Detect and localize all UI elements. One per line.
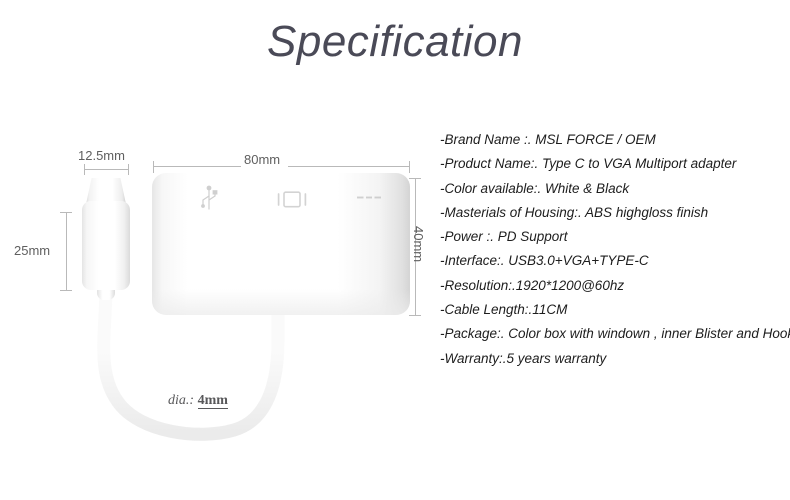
power-icon bbox=[356, 193, 382, 205]
spec-line: -Interface:. USB3.0+VGA+TYPE-C bbox=[440, 249, 790, 273]
spec-line: -Masterials of Housing:. ABS highgloss f… bbox=[440, 201, 790, 225]
spec-line: -Product Name:. Type C to VGA Multiport … bbox=[440, 152, 790, 176]
dim-tick-body-height-top bbox=[409, 178, 421, 179]
spec-line: -Resolution:.1920*1200@60hz bbox=[440, 274, 790, 298]
specification-list: -Brand Name :. MSL FORCE / OEM -Product … bbox=[440, 128, 790, 371]
usb-icon bbox=[200, 185, 218, 211]
dim-label-body-height: 40mm bbox=[411, 226, 426, 262]
dim-label-body-width: 80mm bbox=[244, 152, 280, 167]
product-diagram: 12.5mm 25mm 80mm 40mm dia.: 4mm bbox=[0, 100, 440, 460]
dim-line-connector-height bbox=[66, 212, 67, 290]
adapter-housing bbox=[152, 173, 410, 315]
cable-dia-prefix: dia. bbox=[168, 393, 189, 408]
dim-label-connector-width: 12.5mm bbox=[78, 148, 125, 163]
usb-c-connector-body bbox=[82, 201, 130, 290]
spec-line: -Cable Length:.11CM bbox=[440, 298, 790, 322]
spec-line: -Package:. Color box with windown , inne… bbox=[440, 322, 790, 346]
dim-tick-body-width-right bbox=[409, 161, 410, 173]
dim-line-connector-width bbox=[84, 169, 128, 170]
dim-tick-connector-width-left bbox=[84, 164, 85, 175]
dim-label-connector-height: 25mm bbox=[14, 243, 50, 258]
dim-tick-connector-height-bottom bbox=[60, 290, 72, 291]
cable-dia-value: 4mm bbox=[198, 393, 228, 409]
spec-line: -Color available:. White & Black bbox=[440, 177, 790, 201]
spec-line: -Brand Name :. MSL FORCE / OEM bbox=[440, 128, 790, 152]
spec-line: -Power :. PD Support bbox=[440, 225, 790, 249]
dim-tick-connector-width-right bbox=[128, 164, 129, 175]
dim-line-body-width-left bbox=[153, 166, 241, 167]
cable-dia-separator: : bbox=[189, 393, 194, 408]
spec-line: -Warranty:.5 years warranty bbox=[440, 347, 790, 371]
dim-tick-body-width-left bbox=[153, 161, 154, 173]
dim-label-cable-diameter: dia.: 4mm bbox=[168, 393, 228, 409]
dim-tick-connector-height-top bbox=[60, 212, 72, 213]
usb-c-connector bbox=[82, 178, 130, 290]
dim-line-body-width-right bbox=[288, 166, 410, 167]
page-title: Specification bbox=[0, 14, 790, 69]
dim-tick-body-height-bottom bbox=[409, 315, 421, 316]
display-icon bbox=[277, 191, 307, 208]
